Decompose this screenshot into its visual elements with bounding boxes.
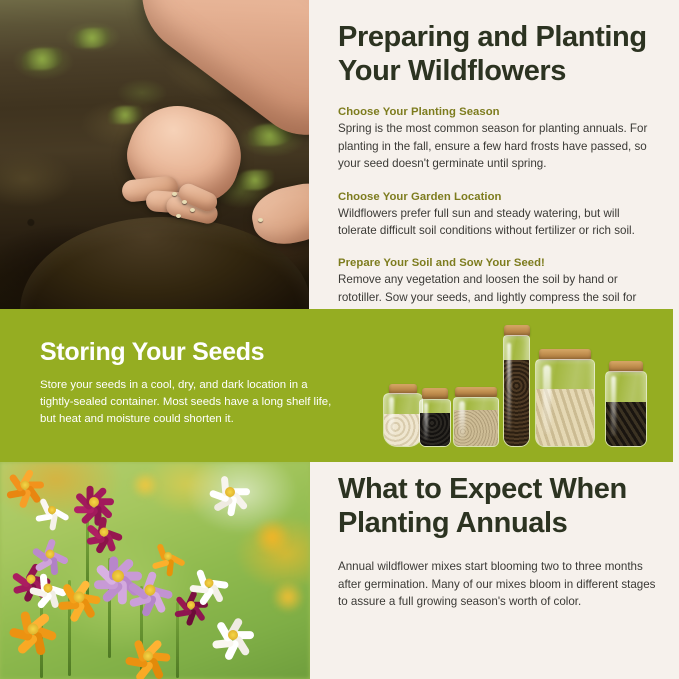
- jar-2-highlight: [424, 403, 428, 440]
- blurred-yellow-bokeh-2: [270, 582, 306, 612]
- planting-block-2-subheading: Choose Your Garden Location: [338, 191, 658, 203]
- seed-1: [172, 192, 177, 196]
- seed-jar-4: [503, 335, 530, 447]
- flower-white-4-center: [228, 630, 238, 640]
- seed-2: [182, 200, 187, 204]
- flower-orange-3: [8, 604, 58, 654]
- seed-4: [190, 208, 195, 212]
- seed-jar-1: [383, 393, 423, 447]
- expect-heading: What to Expect When Planting Annuals: [338, 472, 658, 540]
- seed-jar-3: [453, 397, 499, 447]
- storing-text-column: Storing Your Seeds Store your seeds in a…: [40, 339, 340, 428]
- seed-jars-photo: [383, 325, 665, 451]
- flower-white-3-center: [205, 579, 214, 588]
- sprout-blur-3: [108, 106, 142, 124]
- expect-text-column: What to Expect When Planting Annuals Ann…: [338, 472, 658, 611]
- seed-jar-5: [535, 359, 595, 447]
- seed-5: [258, 218, 263, 222]
- flower-white-4: [210, 612, 256, 658]
- flower-orange-2-center: [74, 592, 85, 603]
- flower-orange-4-center: [143, 651, 153, 661]
- sprout-blur-1: [22, 48, 62, 70]
- flower-magenta-2-center: [100, 528, 109, 537]
- seed-3: [176, 214, 181, 218]
- jar-2-glass: [419, 399, 451, 447]
- flower-white-1-center: [225, 487, 235, 497]
- storing-body: Store your seeds in a cool, dry, and dar…: [40, 377, 340, 429]
- jar-5-glass: [535, 359, 595, 447]
- flower-orange-3-center: [28, 624, 39, 635]
- flower-white-5-center: [48, 506, 56, 514]
- flower-orange-1: [4, 464, 46, 506]
- jar-3-highlight: [459, 401, 465, 439]
- blurred-yellow-bokeh-3: [130, 472, 160, 498]
- flower-magenta-2: [84, 512, 124, 552]
- expect-body: Annual wildflower mixes start blooming t…: [338, 558, 658, 610]
- jar-5-highlight: [543, 365, 551, 434]
- storing-heading: Storing Your Seeds: [40, 339, 340, 367]
- planting-block-1-subheading: Choose Your Planting Season: [338, 106, 658, 118]
- seed-jar-6: [605, 371, 647, 447]
- flower-orange-4: [124, 632, 172, 679]
- jar-6-highlight: [611, 376, 617, 435]
- flower-orange-2: [56, 574, 102, 620]
- flower-white-2-center: [44, 584, 53, 593]
- wildflower-planting-infographic: Preparing and Planting Your Wildflowers …: [0, 0, 679, 679]
- jar-1-glass: [383, 393, 423, 447]
- flower-orange-5: [150, 538, 186, 574]
- jar-3-glass: [453, 397, 499, 447]
- storing-seeds-band: Storing Your Seeds Store your seeds in a…: [0, 309, 673, 462]
- jar-2-cork: [422, 388, 448, 399]
- flower-lavender-1-center: [112, 570, 124, 582]
- planting-block-2-body: Wildflowers prefer full sun and steady w…: [338, 205, 658, 240]
- jar-6-glass: [605, 371, 647, 447]
- flower-orange-1-center: [21, 481, 30, 490]
- planting-text-column: Preparing and Planting Your Wildflowers …: [338, 0, 658, 309]
- sprout-blur-5: [236, 170, 274, 190]
- blurred-yellow-bokeh-1: [252, 520, 292, 554]
- flower-magenta-1-center: [89, 497, 99, 507]
- jar-3-cork: [455, 387, 497, 397]
- wildflower-meadow-photo: [0, 462, 310, 679]
- flower-orange-5-center: [164, 552, 172, 560]
- seed-jar-2: [419, 399, 451, 447]
- flower-lavender-3-center: [46, 550, 55, 559]
- flower-lavender-2-center: [145, 585, 156, 596]
- flower-white-1: [208, 470, 252, 514]
- planting-block-3-subheading: Prepare Your Soil and Sow Your Seed!: [338, 257, 658, 269]
- flower-white-3: [188, 562, 230, 604]
- jar-4-highlight: [507, 343, 511, 431]
- jar-4-glass: [503, 335, 530, 447]
- planting-heading: Preparing and Planting Your Wildflowers: [338, 0, 658, 88]
- sprout-blur-2: [74, 28, 110, 48]
- jar-1-highlight: [389, 397, 394, 439]
- soil-planting-photo: [0, 0, 309, 309]
- planting-block-1-body: Spring is the most common season for pla…: [338, 120, 658, 172]
